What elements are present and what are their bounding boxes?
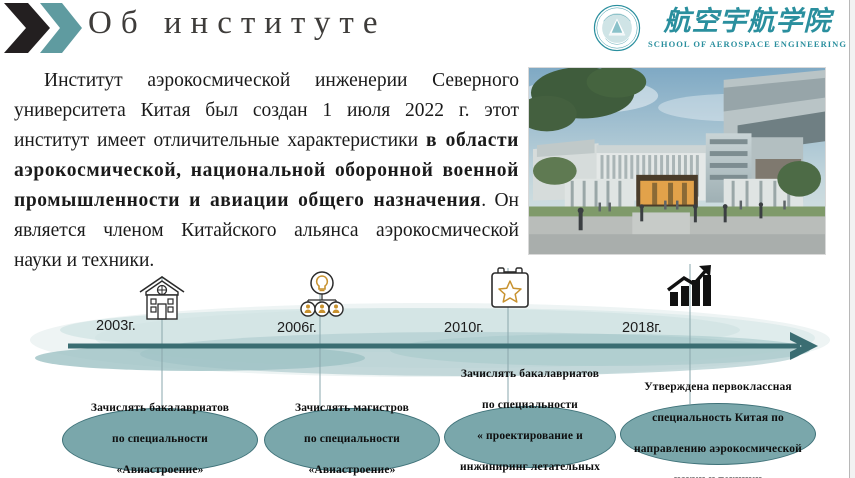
logo-chinese-name: 航空宇航学院 [663, 8, 831, 35]
bubble-text-2003: Зачислять бакалавриатов по специальности… [69, 401, 251, 478]
growth-chart-icon [666, 264, 716, 313]
slide-about-institute: Об институте 航空宇航学院 SCHOOL OF AEROSPACE … [0, 0, 855, 478]
campus-building-rendering [529, 68, 825, 254]
timeline-bubble-2003[interactable]: Зачислять бакалавриатов по специальности… [62, 408, 258, 472]
timeline-bubble-2018[interactable]: Утверждена первоклассная специальность К… [620, 403, 816, 465]
campus-photo [528, 67, 826, 255]
timeline-year-2010: 2010г. [444, 320, 484, 336]
timeline-bubble-2010[interactable]: Зачислять бакалавриатов по специальности… [444, 406, 616, 468]
logo-english-name: SCHOOL OF AEROSPACE ENGINEERING [648, 39, 847, 49]
timeline: 2003г. 2006г. 2010г. 2018г. Зачислять ба… [0, 258, 855, 478]
about-paragraph: Институт аэрокосмической инженерии Север… [14, 66, 519, 276]
bubble-text-2018: Утверждена первоклассная специальность К… [627, 380, 809, 478]
house-icon [136, 274, 188, 327]
timeline-year-2003: 2003г. [96, 318, 136, 334]
slide-header: Об институте 航空宇航学院 SCHOOL OF AEROSPACE … [0, 0, 855, 58]
page-title: Об институте [88, 5, 386, 42]
chevron-decoration [2, 2, 84, 59]
double-chevron-icon [2, 2, 84, 54]
bubble-text-2006: Зачислять магистров по специальности «Ав… [271, 401, 433, 478]
school-logo: 航空宇航学院 SCHOOL OF AEROSPACE ENGINEERING [593, 4, 847, 52]
calendar-star-icon [487, 266, 533, 319]
lightbulb-team-icon [298, 270, 346, 323]
bubble-text-2010: Зачислять бакалавриатов по специальности… [451, 367, 609, 478]
timeline-year-2006: 2006г. [277, 320, 317, 336]
timeline-year-2018: 2018г. [622, 320, 662, 336]
timeline-bubble-2006[interactable]: Зачислять магистров по специальности «Ав… [264, 408, 440, 472]
right-edge-fill [850, 0, 855, 478]
school-seal-icon [593, 4, 641, 52]
